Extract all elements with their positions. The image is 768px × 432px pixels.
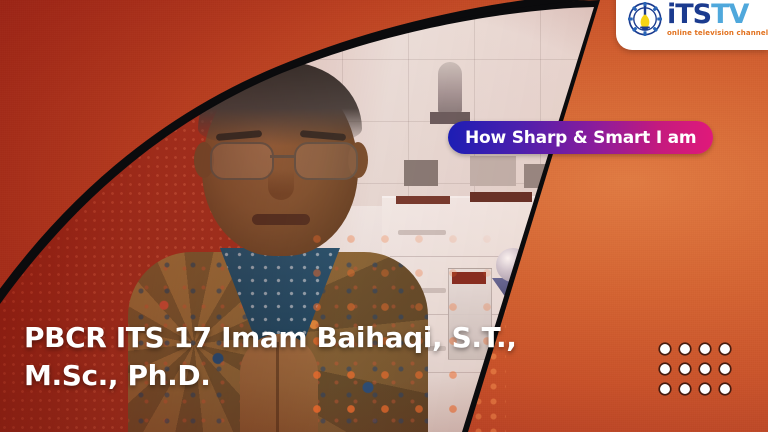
episode-title-line-2: M.Sc., Ph.D. — [24, 357, 624, 396]
show-title-badge[interactable]: How Sharp & Smart I am — [448, 121, 713, 154]
logo-tv-text: TV — [711, 1, 748, 28]
decorative-dot-grid — [660, 344, 730, 394]
show-title-badge-label: How Sharp & Smart I am — [465, 128, 696, 148]
logo-wordmark: iTS TV online television channel — [667, 1, 768, 37]
episode-title: PBCR ITS 17 Imam Baihaqi, S.T., M.Sc., P… — [24, 319, 624, 396]
video-thumbnail: iTS TV online television channel How Sha… — [0, 0, 768, 432]
its-emblem-icon — [628, 2, 662, 36]
logo-its-text: iTS — [667, 1, 711, 28]
episode-title-line-1: PBCR ITS 17 Imam Baihaqi, S.T., — [24, 319, 624, 358]
logo-tagline: online television channel — [667, 29, 768, 37]
its-tv-logo-card[interactable]: iTS TV online television channel — [616, 0, 768, 50]
